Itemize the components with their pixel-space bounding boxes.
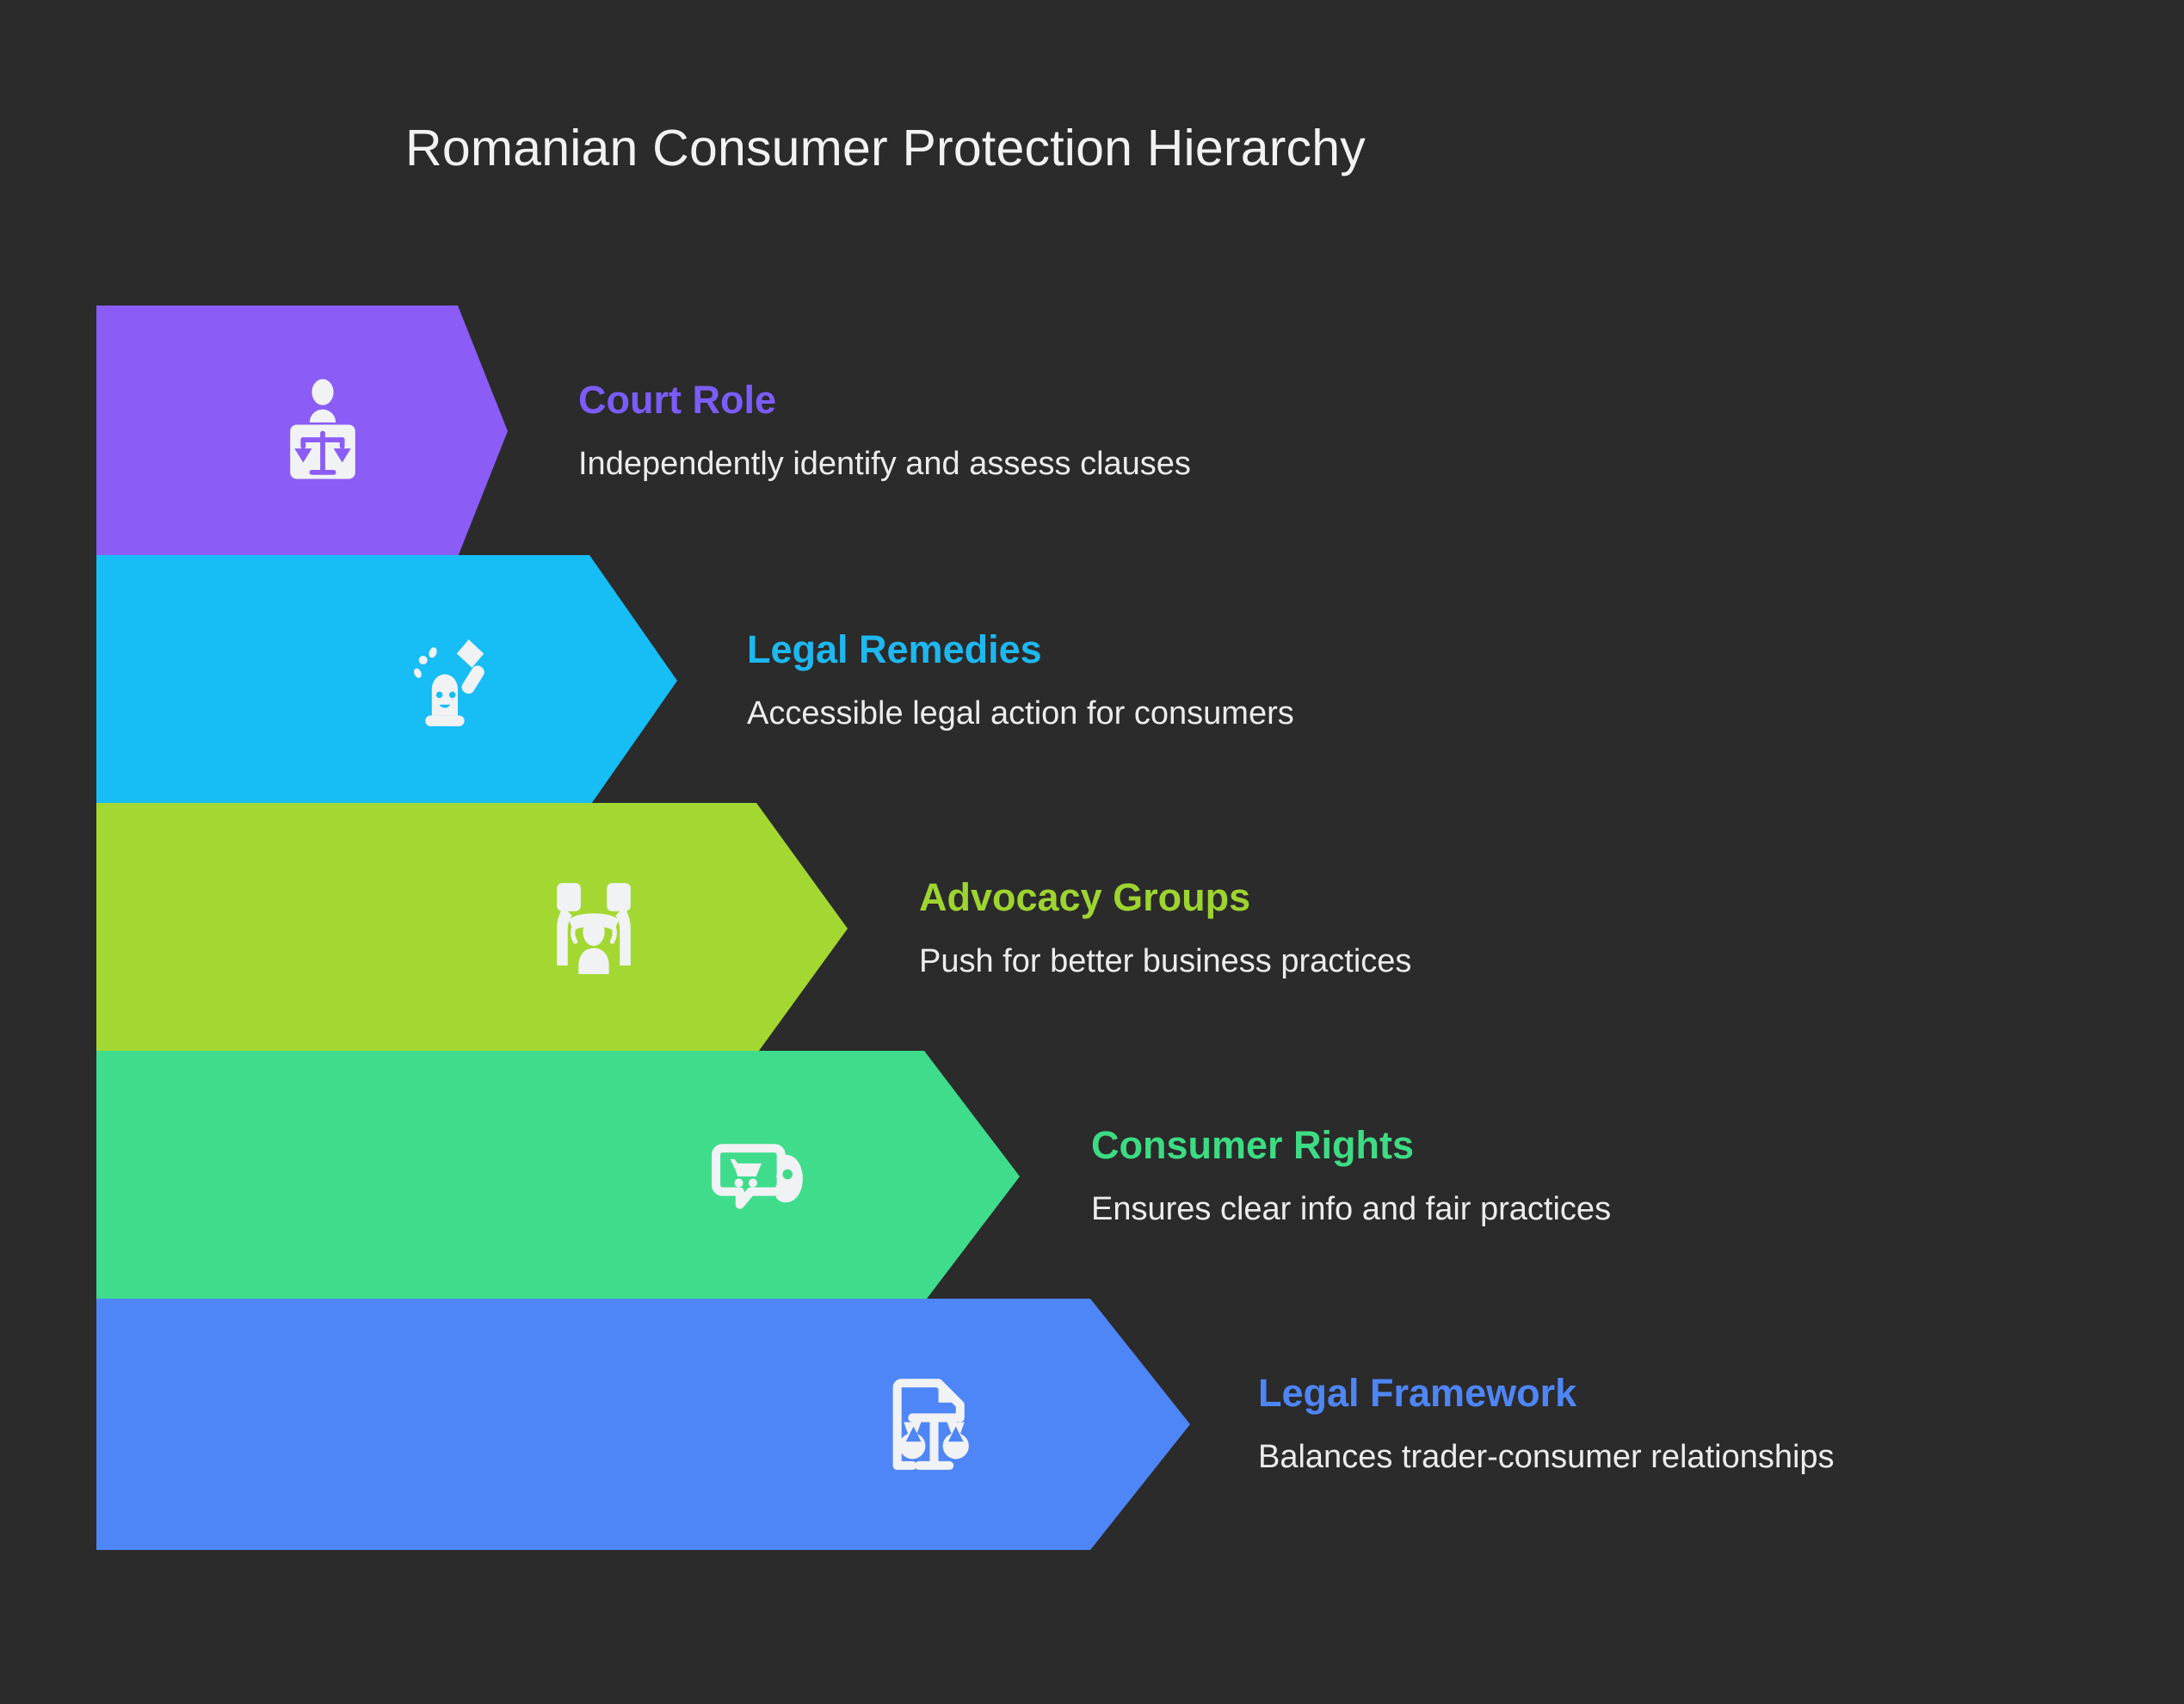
arrow-band[interactable]	[96, 1299, 1190, 1550]
judge-scales-icon	[267, 375, 379, 487]
row-heading: Advocacy Groups	[919, 877, 1411, 917]
hierarchy-row: Consumer RightsEnsures clear info and fa…	[0, 1051, 2184, 1302]
row-heading: Court Role	[578, 380, 1191, 420]
infographic-canvas: Romanian Consumer Protection Hierarchy C…	[0, 0, 2184, 1704]
row-text-column: Consumer RightsEnsures clear info and fa…	[1091, 1051, 1611, 1302]
row-text-column: Legal RemediesAccessible legal action fo…	[747, 555, 1294, 806]
arrow-band[interactable]	[96, 555, 677, 806]
document-scales-icon	[876, 1368, 988, 1480]
row-text-column: Court RoleIndependently identify and ass…	[578, 306, 1191, 557]
row-description: Ensures clear info and fair practices	[1091, 1192, 1611, 1228]
page-title-text: Romanian Consumer Protection Hierarchy	[405, 119, 1366, 177]
row-description: Push for better business practices	[919, 944, 1411, 980]
arrow-band[interactable]	[96, 1051, 1020, 1302]
arrow-band[interactable]	[96, 803, 848, 1054]
cart-speech-profile-icon	[706, 1121, 817, 1232]
row-text-column: Legal FrameworkBalances trader-consumer …	[1258, 1299, 1835, 1550]
page-title: Romanian Consumer Protection Hierarchy	[0, 119, 2184, 177]
gavel-block-icon	[398, 625, 509, 737]
hierarchy-row: Court RoleIndependently identify and ass…	[0, 306, 2184, 557]
advocacy-protest-icon	[538, 873, 650, 985]
hierarchy-row: Advocacy GroupsPush for better business …	[0, 803, 2184, 1054]
row-description: Balances trader-consumer relationships	[1258, 1440, 1835, 1476]
hierarchy-row: Legal FrameworkBalances trader-consumer …	[0, 1299, 2184, 1550]
row-description: Accessible legal action for consumers	[747, 696, 1294, 732]
row-heading: Consumer Rights	[1091, 1125, 1611, 1165]
row-heading: Legal Remedies	[747, 629, 1294, 670]
hierarchy-row: Legal RemediesAccessible legal action fo…	[0, 555, 2184, 806]
row-heading: Legal Framework	[1258, 1373, 1835, 1413]
row-description: Independently identify and assess clause…	[578, 447, 1191, 483]
row-text-column: Advocacy GroupsPush for better business …	[919, 803, 1411, 1054]
